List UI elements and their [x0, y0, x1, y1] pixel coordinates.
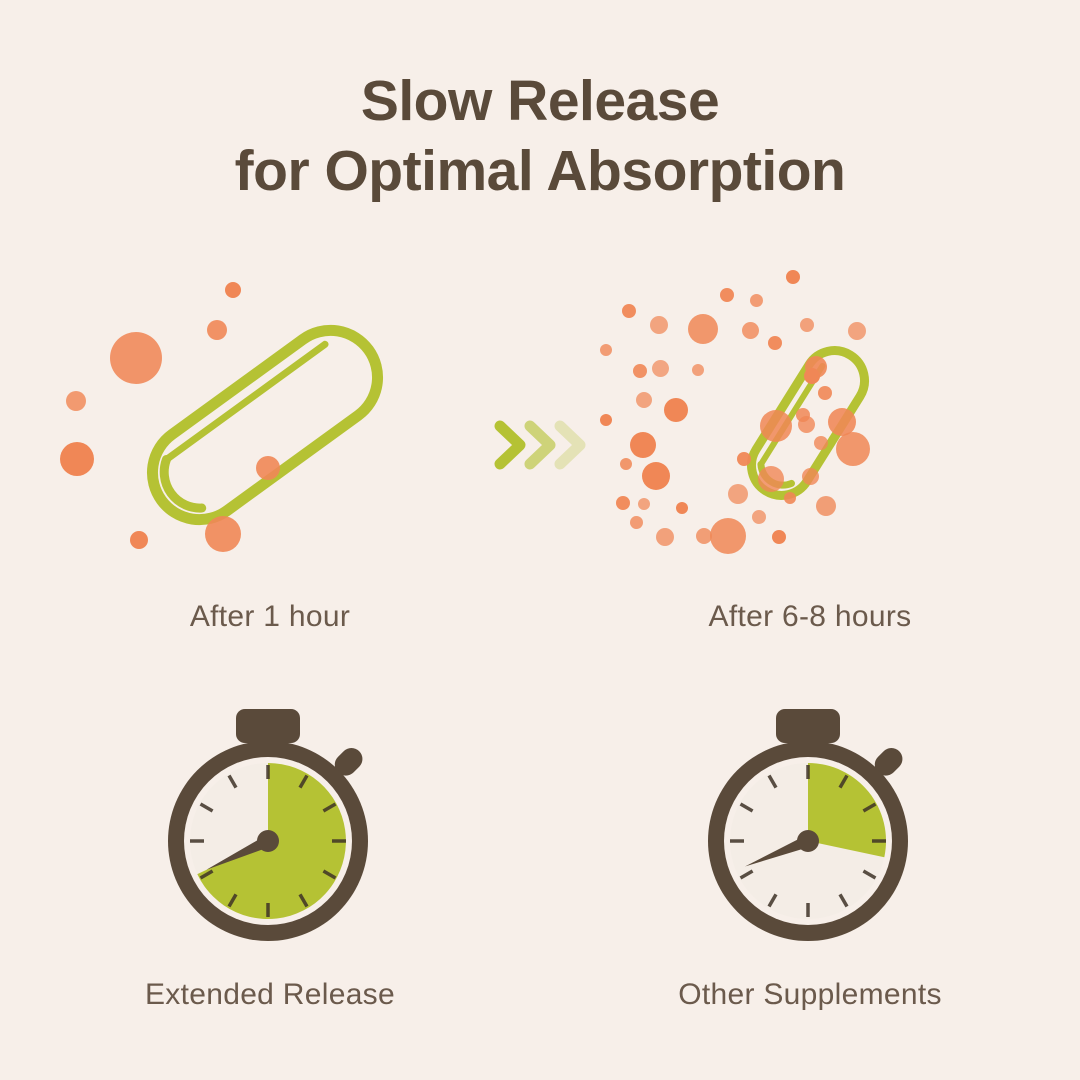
- particle: [805, 356, 827, 378]
- stopwatch-icon: [120, 705, 420, 955]
- particle: [642, 462, 670, 490]
- particle: [66, 391, 86, 411]
- particle: [110, 332, 162, 384]
- particle: [752, 510, 766, 524]
- step-after-1-hour-illustration: [60, 260, 480, 590]
- particle: [616, 496, 630, 510]
- chevron-right-triple-icon: [490, 412, 590, 478]
- pill-capsule-icon: [60, 260, 480, 590]
- particle: [652, 360, 669, 377]
- particle: [225, 282, 241, 298]
- infographic-canvas: Slow Release for Optimal Absorption: [0, 0, 1080, 1080]
- particle: [786, 270, 800, 284]
- caption-after-1-hour: After 1 hour: [0, 600, 540, 634]
- particle: [750, 294, 763, 307]
- caption-extended-release: Extended Release: [0, 978, 540, 1012]
- particle: [256, 456, 280, 480]
- particle: [818, 386, 832, 400]
- particle: [737, 452, 751, 466]
- particle: [633, 364, 647, 378]
- particle: [676, 502, 688, 514]
- caption-other-supplements: Other Supplements: [540, 978, 1080, 1012]
- particle: [758, 466, 784, 492]
- step-after-6-8-hours-illustration: [600, 260, 1020, 590]
- particle: [798, 416, 815, 433]
- particle: [636, 392, 652, 408]
- particle: [688, 314, 718, 344]
- title-line-1: Slow Release: [0, 66, 1080, 136]
- particle: [728, 484, 748, 504]
- particle: [620, 458, 632, 470]
- particle: [800, 318, 814, 332]
- particle: [720, 288, 734, 302]
- particle: [207, 320, 227, 340]
- stopwatch-icon: [660, 705, 960, 955]
- particle: [630, 516, 643, 529]
- caption-after-6-8-hours: After 6-8 hours: [540, 600, 1080, 634]
- particle: [816, 496, 836, 516]
- particle: [760, 410, 792, 442]
- particle: [600, 344, 612, 356]
- particle: [814, 436, 828, 450]
- particle: [650, 316, 668, 334]
- particle: [772, 530, 786, 544]
- particle: [638, 498, 650, 510]
- particle: [742, 322, 759, 339]
- title-line-2: for Optimal Absorption: [0, 136, 1080, 206]
- particle: [802, 468, 819, 485]
- particle: [710, 518, 746, 554]
- particle: [768, 336, 782, 350]
- page-title: Slow Release for Optimal Absorption: [0, 66, 1080, 206]
- stopwatch-extended-release: [120, 705, 420, 955]
- particle: [630, 432, 656, 458]
- particle: [664, 398, 688, 422]
- particle: [622, 304, 636, 318]
- particle: [848, 322, 866, 340]
- particle: [836, 432, 870, 466]
- particle: [600, 414, 612, 426]
- particle: [692, 364, 704, 376]
- particle: [205, 516, 241, 552]
- particle: [656, 528, 674, 546]
- particle: [130, 531, 148, 549]
- stopwatch-other-supplements: [660, 705, 960, 955]
- particle: [784, 492, 796, 504]
- particle: [60, 442, 94, 476]
